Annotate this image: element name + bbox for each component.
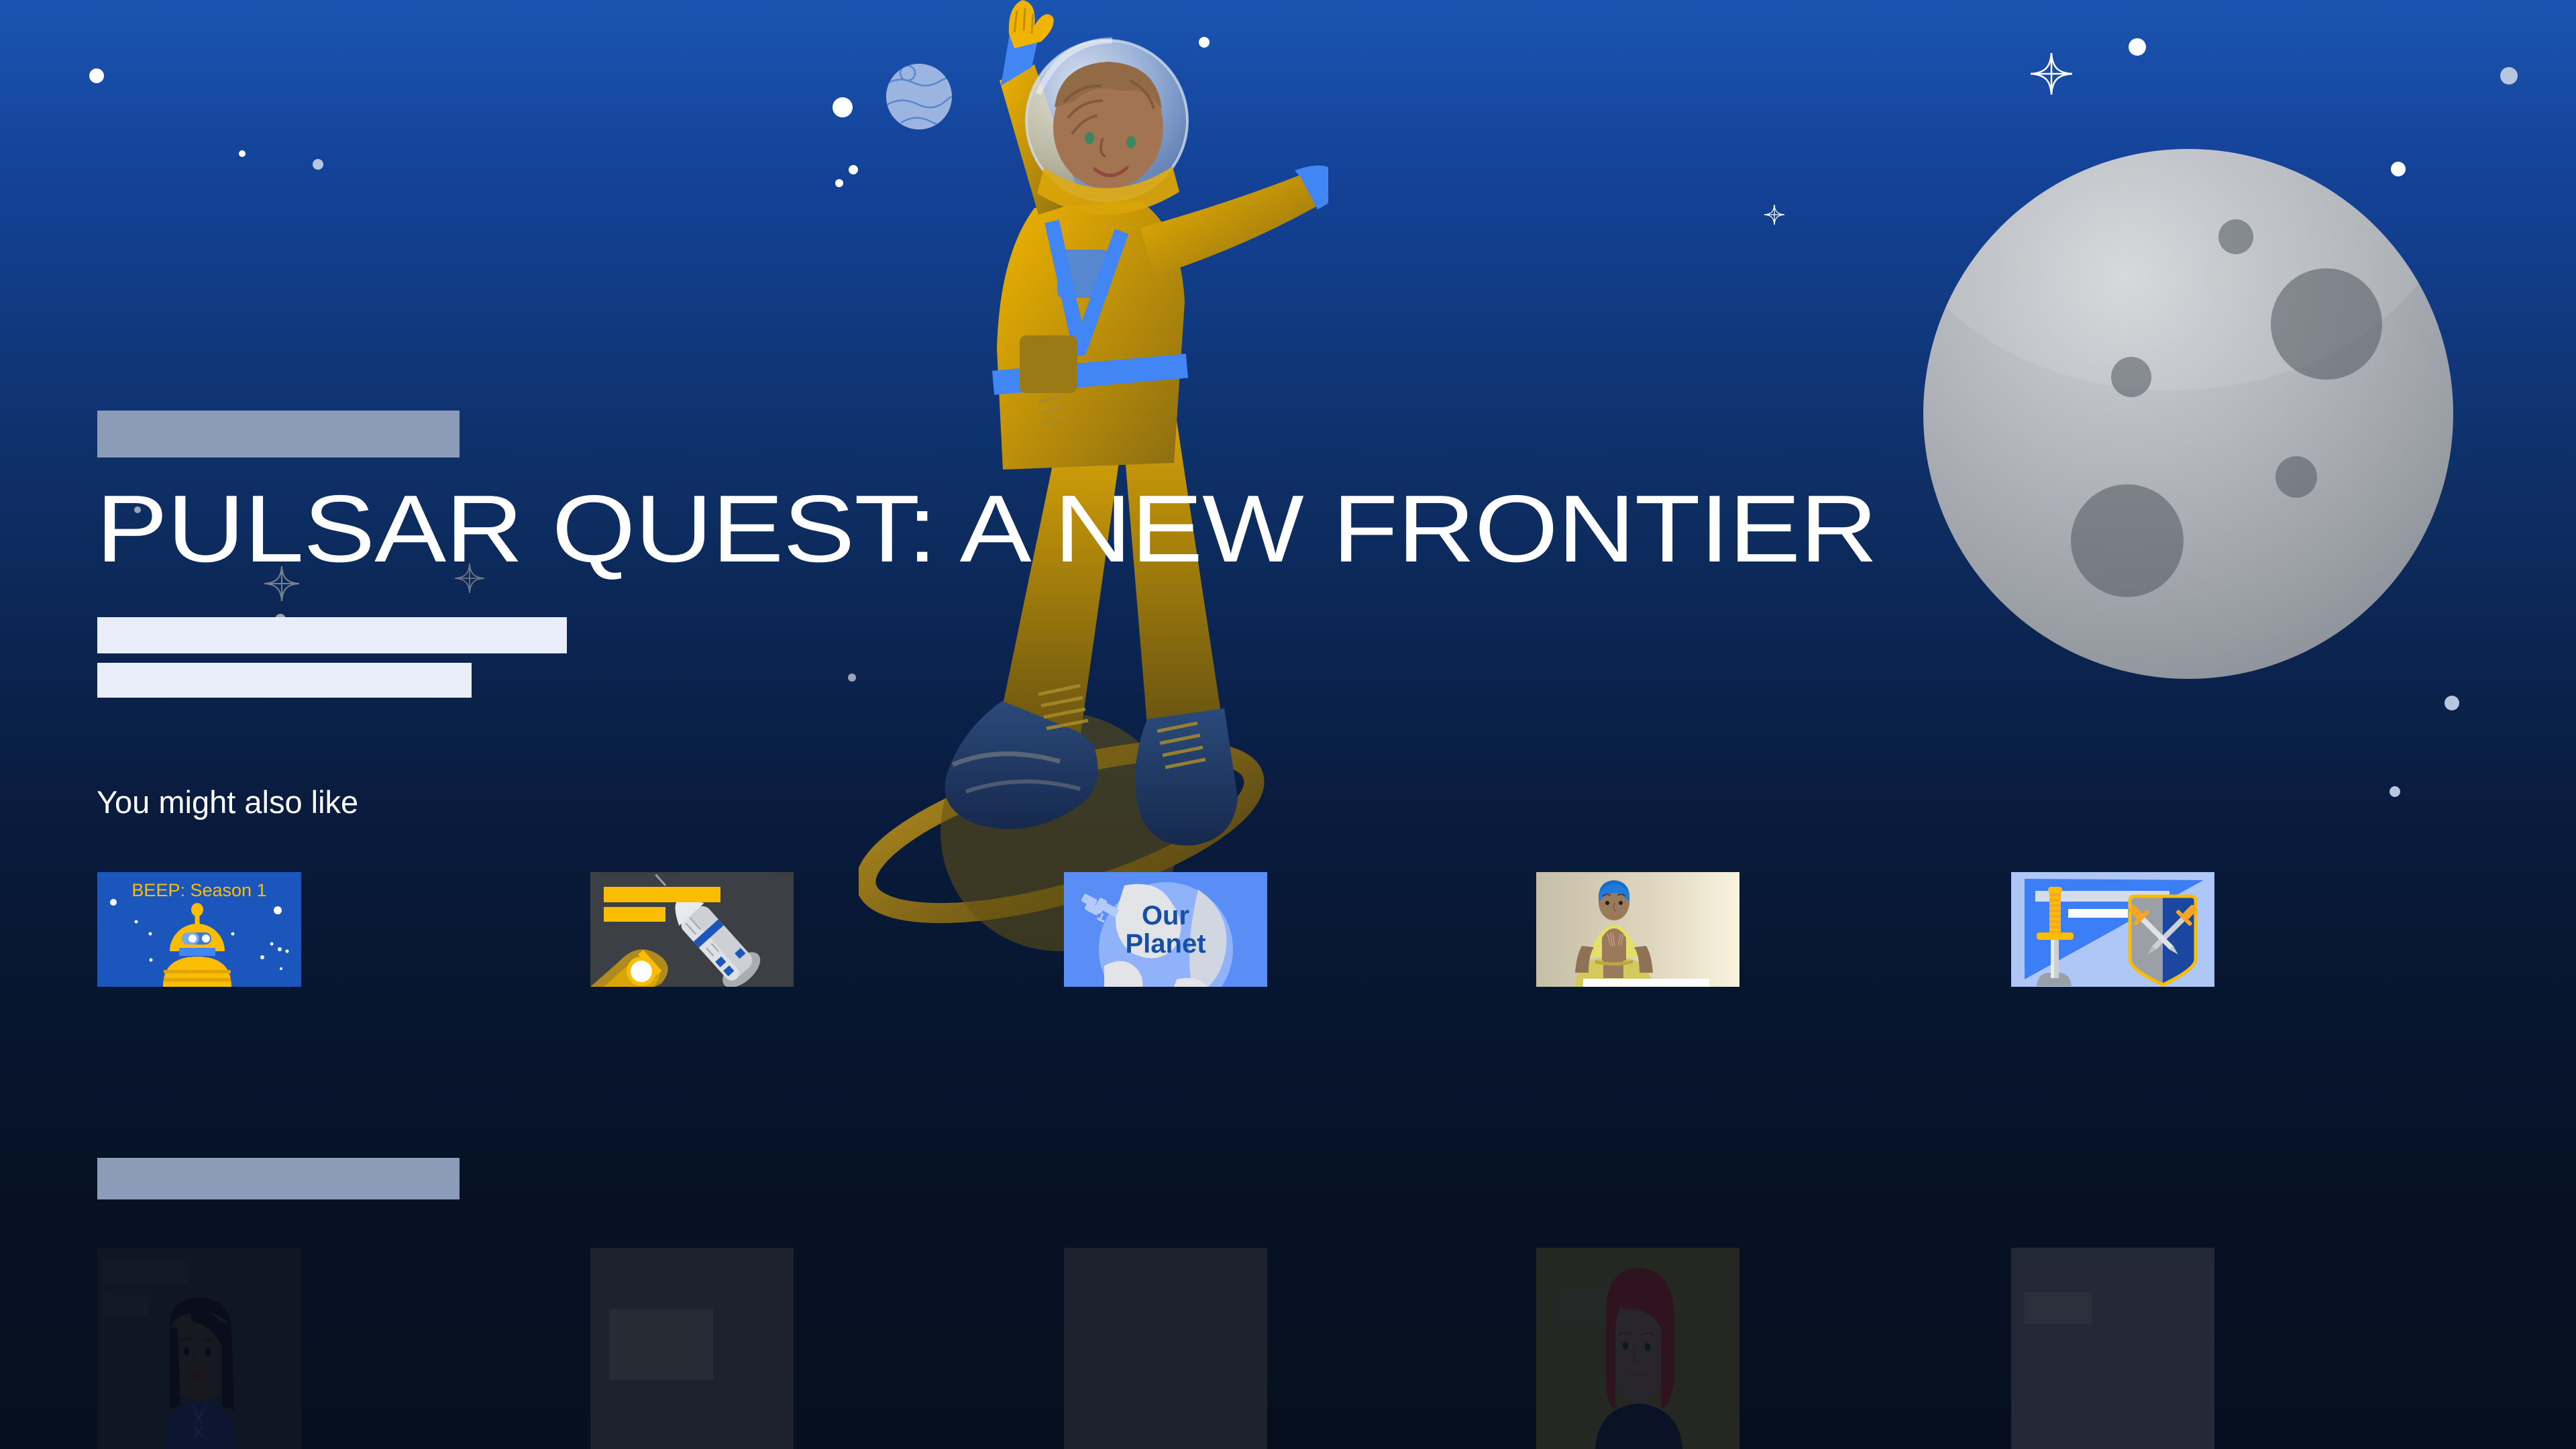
moon-crater [2111, 357, 2151, 397]
card-beep-season-1[interactable]: BEEP: Season 1 [97, 872, 301, 987]
star [2500, 67, 2518, 85]
star [89, 68, 104, 83]
star [2129, 38, 2146, 56]
card-row2-2[interactable] [590, 1248, 794, 1449]
app-stage: PULSAR QUEST: A NEW FRONTIER You might a… [0, 0, 2576, 1449]
star [2390, 786, 2400, 797]
page-title: PULSAR QUEST: A NEW FRONTIER [96, 482, 1877, 577]
astronaut-illustration [859, 0, 1328, 1234]
star [848, 674, 856, 682]
moon-crater [2218, 219, 2253, 254]
card-row2-4[interactable] [1536, 1248, 1739, 1449]
star [833, 97, 853, 117]
section-label-you-might-also-like: You might also like [97, 784, 358, 820]
card-rocket-launch[interactable] [590, 872, 794, 987]
card-row2-3[interactable] [1064, 1248, 1267, 1449]
card-placeholder-bar [1583, 979, 1709, 987]
card-title-our-planet: Our Planet [1064, 902, 1267, 958]
star [849, 165, 858, 174]
card-sword-and-shield[interactable] [2011, 872, 2214, 987]
star [313, 159, 323, 170]
sparkle-star-icon [1764, 205, 1784, 225]
sparkle-star-icon [2031, 53, 2072, 95]
star [239, 150, 246, 157]
hero-meta-placeholder-2 [97, 663, 472, 698]
moon-crater [2271, 268, 2382, 380]
card-our-planet[interactable]: Our Planet [1064, 872, 1267, 987]
card-meditation-show[interactable] [1536, 872, 1739, 987]
star [2445, 696, 2459, 710]
moon [1923, 149, 2453, 679]
section-2-label-placeholder [97, 1158, 460, 1199]
hero-meta-placeholder-1 [97, 617, 567, 653]
star [835, 179, 843, 187]
hero-badge-placeholder [97, 411, 460, 458]
card-row2-1[interactable] [97, 1248, 301, 1449]
card-row2-5[interactable] [2011, 1248, 2214, 1449]
card-title-beep-season-1: BEEP: Season 1 [97, 880, 301, 901]
moon-crater [2275, 456, 2317, 498]
moon-crater [2071, 484, 2184, 597]
